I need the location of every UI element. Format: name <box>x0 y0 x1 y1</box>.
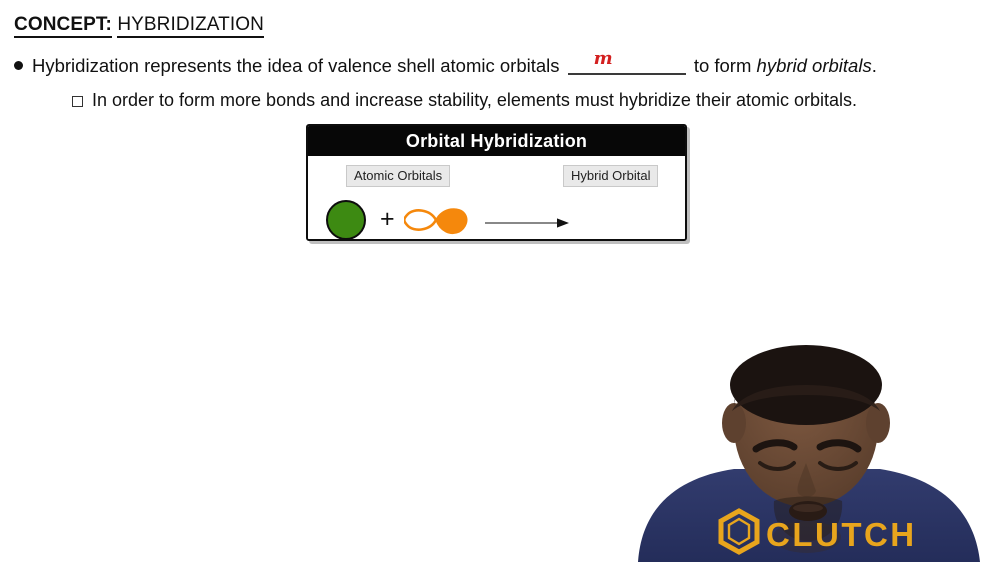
page-title-label: CONCEPT: <box>14 14 112 38</box>
shirt-wordmark: CLUTCH <box>766 516 917 553</box>
bullet-primary-text-end: . <box>872 55 877 76</box>
bullet-item-secondary: In order to form more bonds and increase… <box>72 89 857 111</box>
orbital-hybridization-diagram: Orbital Hybridization Atomic Orbitals Hy… <box>306 124 687 241</box>
instructor-video-overlay: CLUTCH <box>618 345 1000 562</box>
instructor-figure: CLUTCH <box>618 345 1000 562</box>
bullet-primary-text-before: Hybridization represents the idea of val… <box>32 55 560 76</box>
bullet-secondary-text: In order to form more bonds and increase… <box>92 89 857 111</box>
handwritten-annotation: m <box>594 49 614 69</box>
diagram-title: Orbital Hybridization <box>406 131 587 152</box>
instructor-head <box>734 347 878 507</box>
bullet-disc-icon <box>14 61 23 70</box>
bullet-primary-text-italic: hybrid orbitals <box>757 55 872 76</box>
bullet-square-icon <box>72 96 83 107</box>
instructor-hair <box>734 364 880 407</box>
plus-operator: + <box>380 206 395 232</box>
bullet-item-primary: Hybridization represents the idea of val… <box>14 54 877 77</box>
label-hybrid-orbital: Hybrid Orbital <box>563 165 658 187</box>
diagram-title-bar: Orbital Hybridization <box>308 126 685 156</box>
instructor-shirt <box>638 469 980 562</box>
bullet-primary-text-after: to form <box>694 55 752 76</box>
right-arrow-icon <box>485 218 570 228</box>
p-orbital-icon <box>404 204 468 236</box>
hexagon-benzene-icon <box>721 511 757 552</box>
label-atomic-orbitals: Atomic Orbitals <box>346 165 450 187</box>
page-title: CONCEPT: HYBRIDIZATION <box>14 14 264 36</box>
fill-in-blank[interactable]: m <box>568 54 686 75</box>
diagram-body: Atomic Orbitals Hybrid Orbital + <box>308 156 685 239</box>
page-title-topic: HYBRIDIZATION <box>117 14 264 38</box>
s-orbital-icon <box>326 200 366 240</box>
bullet-primary-text: Hybridization represents the idea of val… <box>32 54 877 77</box>
